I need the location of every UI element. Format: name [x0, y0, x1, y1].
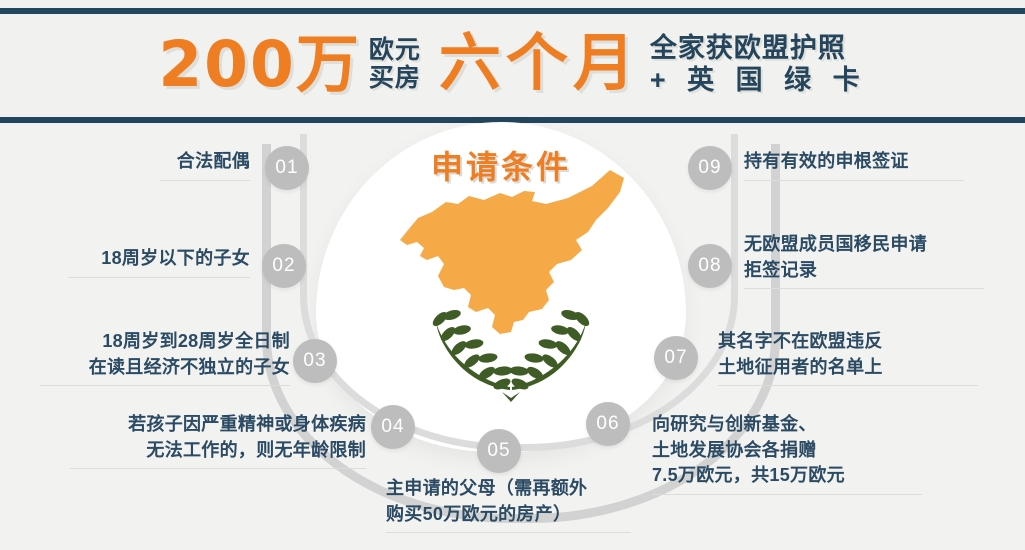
center-title: 申请条件 [316, 142, 686, 188]
headline-amount: 200万 [158, 33, 361, 96]
item-03-text: 18周岁到28周岁全日制 在读且经济不独立的子女 [10, 329, 290, 380]
item-02-text: 18周岁以下的子女 [10, 246, 250, 272]
headline-benefit-line1: 全家获欧盟护照 [650, 32, 867, 64]
headline-duration: 六个月 [439, 33, 640, 95]
item-08[interactable]: 无欧盟成员国移民申请 拒签记录 [744, 232, 1024, 289]
node-05[interactable]: 05 [477, 429, 521, 473]
item-03[interactable]: 18周岁到28周岁全日制 在读且经济不独立的子女 [10, 329, 290, 386]
item-05-underline [386, 532, 631, 533]
node-01[interactable]: 01 [265, 146, 309, 190]
headline: 200万 欧元 买房 六个月 全家获欧盟护照 + 英 国 绿 卡 [0, 14, 1025, 114]
item-09-text: 持有有效的申根签证 [744, 149, 1014, 175]
headline-amount-caption-line1: 欧元 [369, 36, 421, 64]
header-banner: 200万 欧元 买房 六个月 全家获欧盟护照 + 英 国 绿 卡 [0, 0, 1025, 124]
node-09[interactable]: 09 [688, 146, 732, 190]
content-board: 申请条件 01 02 03 04 05 06 07 08 09 合法配偶 18周… [0, 124, 1025, 550]
item-04-underline [70, 468, 366, 469]
headline-benefit-line2: + 英 国 绿 卡 [650, 64, 867, 96]
item-07[interactable]: 其名字不在欧盟违反 土地征用者的名单上 [718, 329, 1008, 386]
headline-amount-caption: 欧元 买房 [369, 36, 421, 92]
item-04-text: 若孩子因严重精神或身体疾病 无法工作的，则无年龄限制 [10, 412, 366, 463]
item-02-underline [68, 277, 250, 278]
cyprus-flag-emblem-icon [396, 152, 626, 402]
item-06-underline [652, 494, 922, 495]
item-05-text: 主申请的父母（需再额外 购买50万欧元的房产） [386, 476, 631, 527]
item-05[interactable]: 主申请的父母（需再额外 购买50万欧元的房产） [386, 476, 631, 533]
item-04[interactable]: 若孩子因严重精神或身体疾病 无法工作的，则无年龄限制 [10, 412, 366, 469]
item-01[interactable]: 合法配偶 [10, 149, 250, 181]
item-01-underline [160, 180, 250, 181]
item-07-text: 其名字不在欧盟违反 土地征用者的名单上 [718, 329, 1008, 380]
node-08[interactable]: 08 [688, 244, 732, 288]
node-04[interactable]: 04 [371, 405, 415, 449]
item-02[interactable]: 18周岁以下的子女 [10, 246, 250, 278]
item-03-underline [40, 385, 290, 386]
item-06[interactable]: 向研究与创新基金、 土地发展协会各捐赠 7.5万欧元，共15万欧元 [652, 412, 952, 495]
headline-benefit: 全家获欧盟护照 + 英 国 绿 卡 [650, 32, 867, 97]
item-01-text: 合法配偶 [10, 149, 250, 175]
node-07[interactable]: 07 [654, 336, 698, 380]
node-03[interactable]: 03 [293, 339, 337, 383]
item-07-underline [718, 385, 978, 386]
node-02[interactable]: 02 [262, 244, 306, 288]
item-06-text: 向研究与创新基金、 土地发展协会各捐赠 7.5万欧元，共15万欧元 [652, 412, 952, 489]
item-08-underline [744, 288, 984, 289]
headline-amount-caption-line2: 买房 [369, 64, 421, 92]
item-09-underline [744, 180, 964, 181]
node-06[interactable]: 06 [586, 402, 630, 446]
infographic-root: 200万 欧元 买房 六个月 全家获欧盟护照 + 英 国 绿 卡 [0, 0, 1025, 550]
item-09[interactable]: 持有有效的申根签证 [744, 149, 1014, 181]
item-08-text: 无欧盟成员国移民申请 拒签记录 [744, 232, 1024, 283]
